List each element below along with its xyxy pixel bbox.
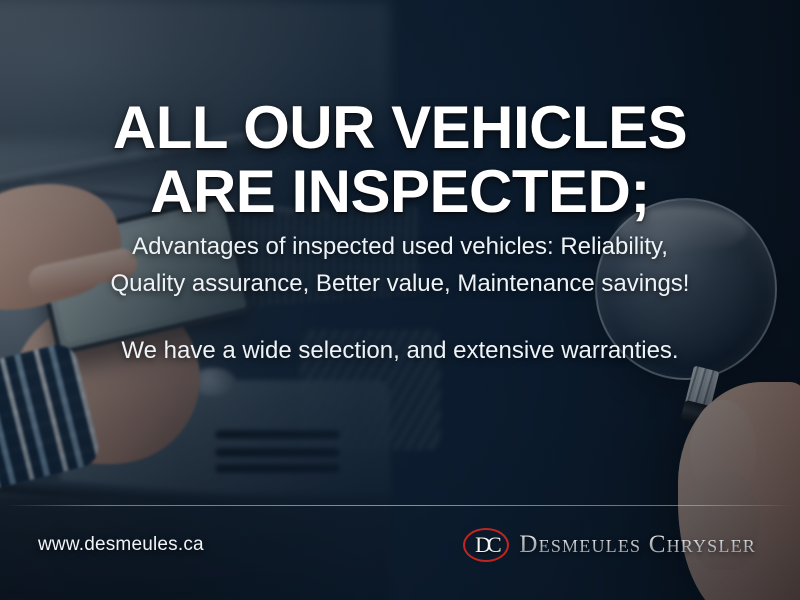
- body-paragraph-2: We have a wide selection, and extensive …: [110, 332, 690, 369]
- body-copy: Advantages of inspected used vehicles: R…: [0, 228, 800, 370]
- brand-name-text: Desmeules Chrysler: [519, 531, 756, 559]
- brand-logo[interactable]: DC Desmeules Chrysler: [463, 528, 756, 562]
- dc-monogram-icon: DC: [463, 528, 509, 562]
- footer-divider: [6, 505, 794, 506]
- website-url[interactable]: www.desmeules.ca: [38, 534, 204, 556]
- advertisement-banner: ALL OUR VEHICLES ARE INSPECTED; Advantag…: [0, 0, 800, 600]
- monogram-letters: DC: [463, 528, 509, 562]
- headline-line-2: ARE INSPECTED;: [60, 160, 740, 224]
- banner-content: ALL OUR VEHICLES ARE INSPECTED; Advantag…: [0, 0, 800, 600]
- headline-line-1: ALL OUR VEHICLES: [113, 94, 687, 161]
- headline: ALL OUR VEHICLES ARE INSPECTED;: [0, 96, 800, 224]
- body-paragraph-1: Advantages of inspected used vehicles: R…: [111, 233, 690, 297]
